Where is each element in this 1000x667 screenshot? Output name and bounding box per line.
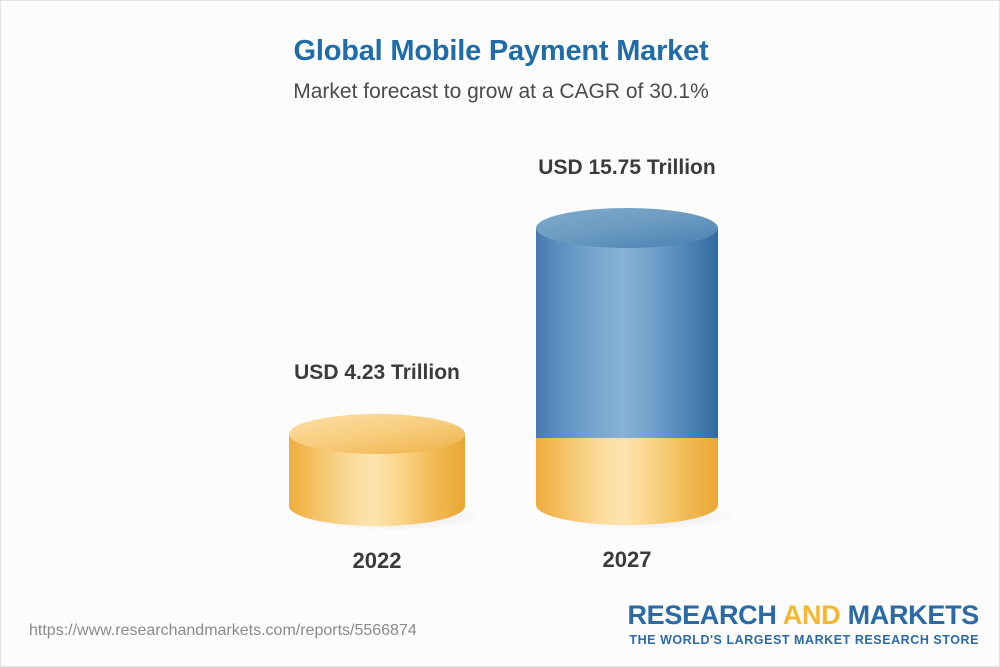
cylinder-2027	[536, 208, 718, 525]
category-label-2027: 2027	[536, 547, 718, 573]
infographic-canvas: Global Mobile Payment Market Market fore…	[0, 0, 1000, 667]
cylinder-2022	[289, 414, 465, 526]
cylinder-graphic-2022	[289, 414, 465, 526]
bar-group-2027: USD 15.75 Trillion	[536, 156, 718, 573]
brand-word-and: AND	[783, 600, 841, 630]
brand-logo-wordmark: RESEARCH AND MARKETS	[627, 602, 979, 629]
category-label-2022: 2022	[289, 548, 465, 574]
source-url[interactable]: https://www.researchandmarkets.com/repor…	[29, 622, 417, 640]
bar-group-2022: USD 4.23 Trillion	[289, 361, 465, 574]
brand-logo[interactable]: RESEARCH AND MARKETS THE WORLD'S LARGEST…	[627, 602, 979, 647]
bar-value-label-2027: USD 15.75 Trillion	[536, 156, 718, 180]
cylinder-graphic-2027	[536, 208, 718, 525]
brand-word-markets: MARKETS	[848, 600, 979, 630]
bar-value-label-2022: USD 4.23 Trillion	[289, 361, 465, 385]
chart-plot-area: USD 4.23 Trillion	[1, 1, 1000, 601]
brand-tagline: THE WORLD'S LARGEST MARKET RESEARCH STOR…	[627, 634, 979, 647]
brand-word-research: RESEARCH	[627, 600, 776, 630]
